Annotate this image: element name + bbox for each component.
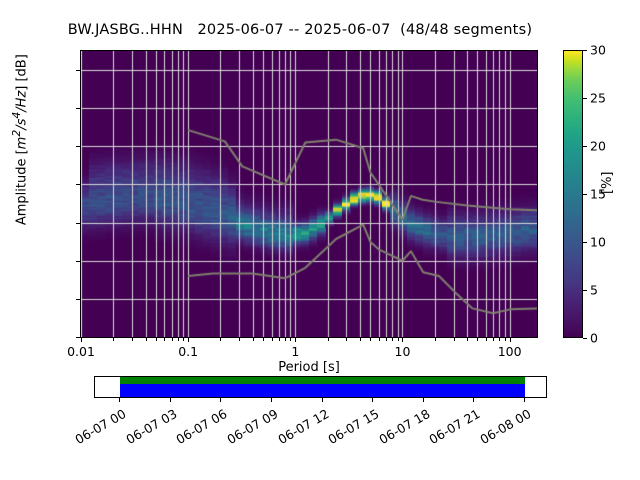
x-tick-label: 1 [255,344,335,359]
x-tick-label: 100 [470,344,550,359]
colorbar-tick-mark [583,338,587,339]
timeline-tick-label: 06-08 00 [476,406,534,448]
x-tick-mark-minor [486,338,487,341]
timeline-tick-mark [524,398,525,402]
x-tick-mark-minor [379,338,380,341]
timeline-tick-label: 06-07 18 [375,406,433,448]
x-tick-label: 10 [362,344,442,359]
x-tick-mark-minor [370,338,371,341]
x-tick-mark-minor [499,338,500,341]
timeline-tick-label: 06-07 21 [425,406,483,448]
colorbar-tick-mark [583,98,587,99]
y-tick-mark [76,299,80,300]
coverage-timeline-axes[interactable] [94,376,547,398]
timeline-tick-label: 06-07 12 [273,406,331,448]
timeline-tick-mark [423,398,424,402]
x-tick-mark-minor [183,338,184,341]
x-axis-label: Period [s] [80,360,538,375]
x-tick-mark-minor [435,338,436,341]
x-tick-mark-minor [505,338,506,341]
y-tick-mark [76,261,80,262]
x-tick-mark-minor [346,338,347,341]
x-tick-mark-minor [467,338,468,341]
colorbar-tick-label: 10 [590,235,606,250]
colorbar-tick-mark [583,50,587,51]
timeline-tick-mark [170,398,171,402]
timeline-tick-mark [322,398,323,402]
x-tick-mark-minor [454,338,455,341]
ppsd-figure: BW.JASBG..HHN 2025-06-07 -- 2025-06-07 (… [0,0,640,480]
x-tick-label: 0.1 [148,344,228,359]
plot-title: BW.JASBG..HHN 2025-06-07 -- 2025-06-07 (… [0,22,600,38]
ppsd-histogram-canvas [81,51,537,337]
x-tick-mark-minor [290,338,291,341]
x-tick-mark-major [510,338,511,342]
colorbar-tick-mark [583,194,587,195]
x-tick-mark-minor [146,338,147,341]
x-tick-mark-minor [156,338,157,341]
y-tick-mark [76,337,80,338]
timeline-tick-mark [119,398,120,402]
colorbar[interactable] [563,50,583,338]
x-tick-mark-minor [386,338,387,341]
x-tick-mark-minor [285,338,286,341]
ppsd-plot-area[interactable] [80,50,538,338]
x-tick-mark-minor [239,338,240,341]
x-tick-mark-major [81,338,82,342]
x-tick-mark-minor [272,338,273,341]
y-tick-mark [76,184,80,185]
colorbar-tick-mark [583,290,587,291]
x-tick-mark-major [188,338,189,342]
x-tick-mark-major [402,338,403,342]
timeline-tick-mark [372,398,373,402]
x-tick-mark-minor [253,338,254,341]
x-tick-mark-minor [392,338,393,341]
x-tick-mark-minor [360,338,361,341]
colorbar-tick-mark [583,242,587,243]
colorbar-tick-mark [583,146,587,147]
y-tick-mark [76,108,80,109]
colorbar-tick-label: 5 [590,283,598,298]
x-tick-mark-minor [164,338,165,341]
x-tick-mark-minor [398,338,399,341]
x-tick-mark-minor [279,338,280,341]
psd-segments-bar [120,377,525,384]
y-tick-mark [76,70,80,71]
data-coverage-bar [120,384,525,397]
timeline-tick-label: 06-07 00 [71,406,129,448]
timeline-tick-mark [271,398,272,402]
timeline-tick-label: 06-07 09 [223,406,281,448]
x-tick-mark-minor [113,338,114,341]
x-tick-mark-major [295,338,296,342]
y-axis-label: Amplitude [m2/s4/Hz] [dB] [10,0,29,285]
x-tick-mark-minor [493,338,494,341]
y-tick-mark [76,223,80,224]
x-tick-mark-minor [220,338,221,341]
timeline-tick-mark [473,398,474,402]
colorbar-tick-label: 30 [590,43,606,58]
timeline-tick-mark [220,398,221,402]
x-tick-mark-minor [328,338,329,341]
x-tick-mark-minor [263,338,264,341]
timeline-tick-label: 06-07 06 [172,406,230,448]
x-tick-mark-minor [172,338,173,341]
timeline-tick-label: 06-07 03 [121,406,179,448]
colorbar-tick-label: 20 [590,139,606,154]
y-tick-mark [76,146,80,147]
colorbar-label: [%] [600,172,615,195]
x-tick-mark-minor [477,338,478,341]
timeline-tick-label: 06-07 15 [324,406,382,448]
colorbar-tick-label: 0 [590,331,598,346]
x-tick-label: 0.01 [41,344,121,359]
x-tick-mark-minor [132,338,133,341]
x-tick-mark-minor [178,338,179,341]
colorbar-tick-label: 25 [590,91,606,106]
